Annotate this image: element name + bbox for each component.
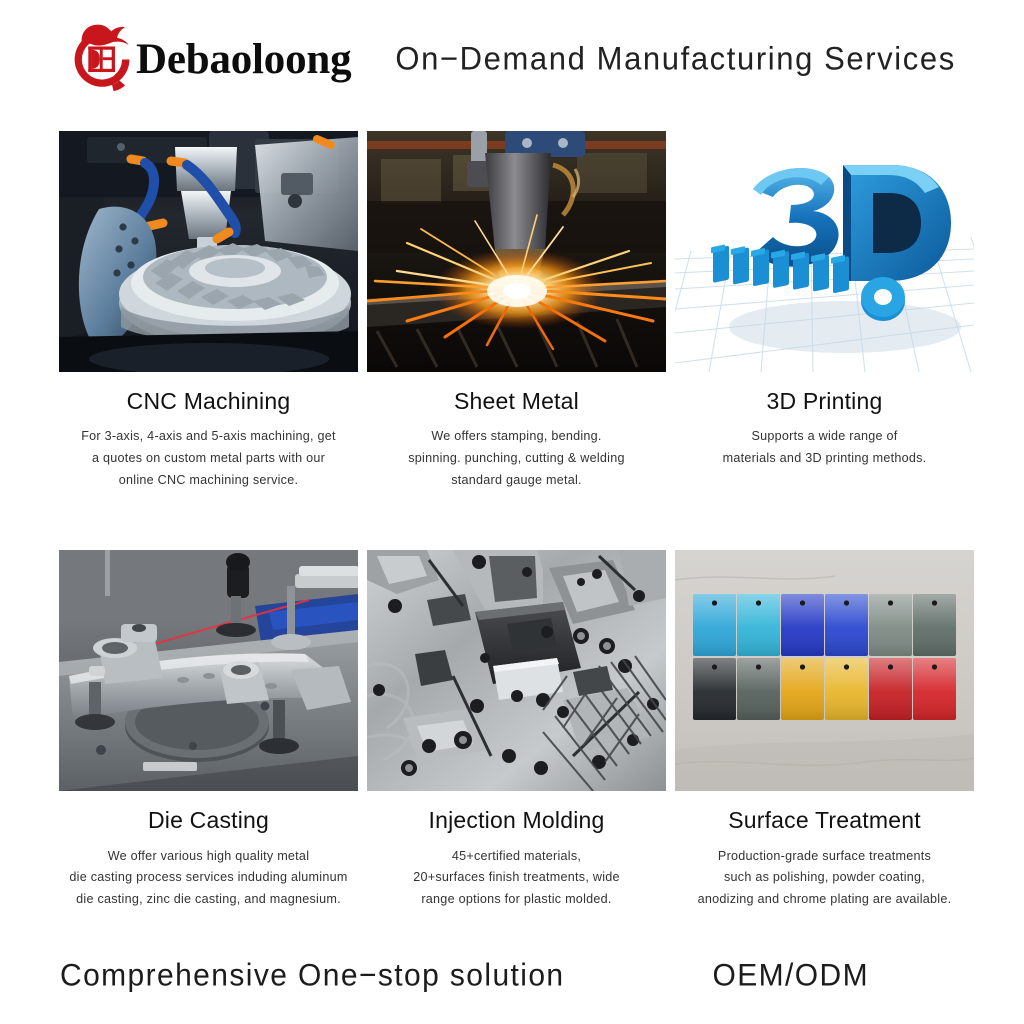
desc-line: die casting, zinc die casting, and magne… [63,889,354,911]
swatch-hole [756,601,761,606]
card-title: Injection Molding [367,808,666,833]
card-title: CNC Machining [59,389,358,414]
desc-line: such as polishing, powder coating, [679,867,970,889]
swatch-hole [932,665,937,670]
desc-line: materials and 3D printing methods. [679,448,970,470]
plasma-cutting-sparks-image [367,131,666,372]
swatch-hole [888,665,893,670]
card-title: Die Casting [59,808,358,833]
card-description: Production-grade surface treatments such… [675,846,974,911]
desc-line: For 3-axis, 4-axis and 5-axis machining,… [63,426,354,448]
die-cast-part-inspection-image [59,550,358,791]
page-title: On−Demand Manufacturing Services [395,40,955,78]
page-footer: Comprehensive One−stop solution OEM/ODM [0,946,1024,1006]
swatch-hole [932,601,937,606]
injection-mold-tooling-image [367,550,666,791]
desc-line: spinning. punching, cutting & welding [371,448,662,470]
card-description: Supports a wide range of materials and 3… [675,426,974,469]
swatch-hole [712,601,717,606]
desc-line: 20+surfaces finish treatments, wide [371,867,662,889]
service-card-die-casting[interactable]: Die Casting We offer various high qualit… [59,550,358,910]
card-description: We offers stamping, bending. spinning. p… [367,426,666,491]
card-title: 3D Printing [675,389,974,414]
card-title: Sheet Metal [367,389,666,414]
card-description: 45+certified materials, 20+surfaces fini… [367,846,666,911]
card-description: For 3-axis, 4-axis and 5-axis machining,… [59,426,358,491]
swatch-hole [712,665,717,670]
brand-lockup: Debaoloong [66,22,351,96]
blue-3d-printing-text-image [675,131,974,372]
swatch-hole [800,665,805,670]
grid-row-spacer [59,491,974,550]
page-header: Debaoloong On−Demand Manufacturing Servi… [0,0,1024,118]
swatch-hole [800,601,805,606]
swatch-hole [844,601,849,606]
desc-line: We offer various high quality metal [63,846,354,868]
swatch-hole [756,665,761,670]
brand-name: Debaoloong [136,38,351,81]
desc-line: anodizing and chrome plating are availab… [679,889,970,911]
footer-tagline-left: Comprehensive One−stop solution [60,958,565,994]
footer-tagline-right: OEM/ODM [713,958,869,994]
service-card-3d-printing[interactable]: 3D Printing Supports a wide range of mat… [675,131,974,491]
desc-line: online CNC machining service. [63,470,354,492]
service-card-injection-molding[interactable]: Injection Molding 45+certified materials… [367,550,666,910]
swatch-hole [844,665,849,670]
desc-line: range options for plastic molded. [371,889,662,911]
debaoloong-circular-dragon-logo-icon [66,22,138,96]
desc-line: Supports a wide range of [679,426,970,448]
desc-line: standard gauge metal. [371,470,662,492]
service-card-cnc-machining[interactable]: CNC Machining For 3-axis, 4-axis and 5-a… [59,131,358,491]
card-title: Surface Treatment [675,808,974,833]
desc-line: a quotes on custom metal parts with our [63,448,354,470]
swatch-hole [888,601,893,606]
anodized-color-plates-image [675,550,974,791]
services-grid: CNC Machining For 3-axis, 4-axis and 5-a… [59,131,973,911]
desc-line: 45+certified materials, [371,846,662,868]
service-card-sheet-metal[interactable]: Sheet Metal We offers stamping, bending.… [367,131,666,491]
desc-line: Production-grade surface treatments [679,846,970,868]
desc-line: die casting process services induding al… [63,867,354,889]
cnc-milling-machine-image [59,131,358,372]
service-card-surface-treatment[interactable]: Surface Treatment Production-grade surfa… [675,550,974,910]
desc-line: We offers stamping, bending. [371,426,662,448]
card-description: We offer various high quality metal die … [59,846,358,911]
